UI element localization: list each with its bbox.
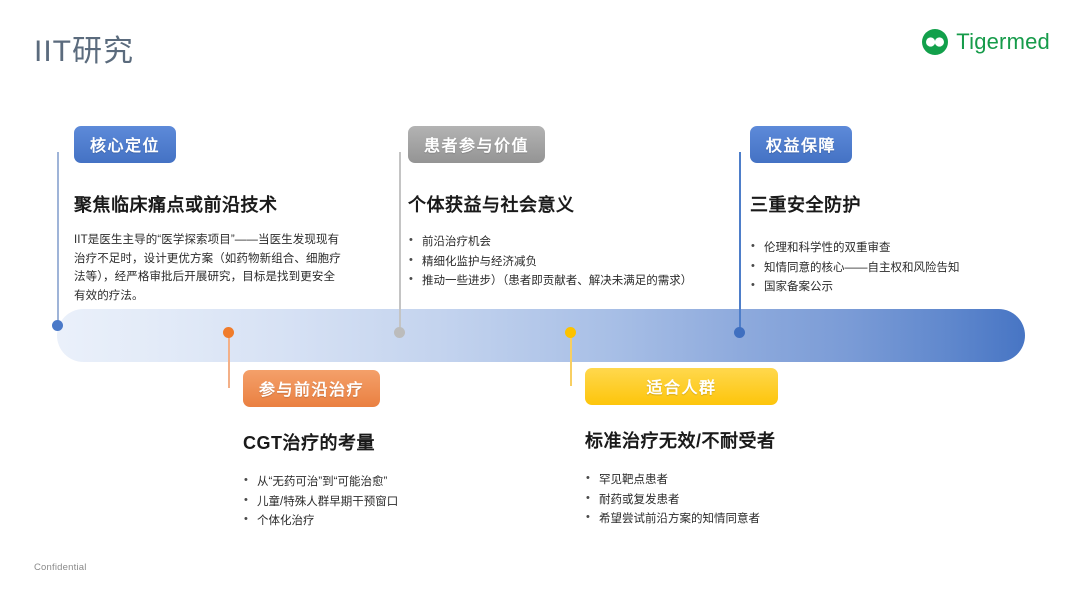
list-item: 个体化治疗	[243, 512, 543, 531]
badge-core-positioning[interactable]: 核心定位	[74, 126, 176, 163]
connector-line-core-positioning	[57, 152, 59, 327]
timeline-dot-core-positioning	[52, 320, 63, 331]
timeline-bar	[57, 309, 1025, 362]
card-core-positioning: 核心定位 聚焦临床痛点或前沿技术 IIT是医生主导的“医学探索项目”——当医生发…	[74, 126, 374, 306]
card-list-suitable-population: 罕见靶点患者 耐药或复发患者 希望尝试前沿方案的知情同意者	[585, 471, 895, 529]
card-list-rights-protection: 伦理和科学性的双重审查 知情同意的核心——自主权和风险告知 国家备案公示	[750, 239, 1050, 297]
card-frontier-treatment: 参与前沿治疗 CGT治疗的考量 从“无药可治”到“可能治愈” 儿童/特殊人群早期…	[243, 370, 553, 532]
list-item: 希望尝试前沿方案的知情同意者	[585, 510, 895, 529]
list-item: 耐药或复发患者	[585, 491, 895, 510]
timeline-dot-rights-protection	[734, 327, 745, 338]
tigermed-logo-icon	[921, 28, 949, 56]
badge-suitable-population[interactable]: 适合人群	[585, 368, 778, 405]
list-item: 知情同意的核心——自主权和风险告知	[750, 259, 1050, 278]
list-item: 伦理和科学性的双重审查	[750, 239, 1050, 258]
tigermed-logo: Tigermed	[921, 28, 1050, 56]
list-item: 罕见靶点患者	[585, 471, 895, 490]
connector-line-frontier-treatment	[228, 333, 230, 388]
card-suitable-population: 适合人群 标准治疗无效/不耐受者 罕见靶点患者 耐药或复发患者 希望尝试前沿方案…	[585, 368, 915, 530]
list-item: 从“无药可治”到“可能治愈”	[243, 473, 543, 492]
connector-line-suitable-population	[570, 333, 572, 386]
connector-line-patient-value	[399, 152, 401, 334]
list-item: 推动一些进步）（患者即贡献者、解决未满足的需求）	[408, 272, 696, 291]
card-title-rights-protection: 三重安全防护	[750, 191, 1060, 217]
list-item: 精细化监护与经济减负	[408, 253, 696, 272]
badge-frontier-treatment[interactable]: 参与前沿治疗	[243, 370, 380, 407]
list-item: 儿童/特殊人群早期干预窗口	[243, 493, 543, 512]
card-title-patient-value: 个体获益与社会意义	[408, 191, 708, 217]
timeline-dot-suitable-population	[565, 327, 576, 338]
page-title: IIT研究	[34, 26, 134, 70]
card-patient-value: 患者参与价值 个体获益与社会意义 前沿治疗机会 精细化监护与经济减负 推动一些进…	[408, 126, 708, 292]
card-title-suitable-population: 标准治疗无效/不耐受者	[585, 427, 915, 453]
confidential-footer: Confidential	[34, 562, 87, 573]
tigermed-logo-text: Tigermed	[956, 29, 1050, 55]
slide-canvas: IIT研究 Tigermed 核心定位 聚焦临床痛点或前沿技术 IIT是医生主导…	[0, 0, 1080, 604]
card-rights-protection: 权益保障 三重安全防护 伦理和科学性的双重审查 知情同意的核心——自主权和风险告…	[750, 126, 1060, 298]
badge-rights-protection[interactable]: 权益保障	[750, 126, 852, 163]
card-list-frontier-treatment: 从“无药可治”到“可能治愈” 儿童/特殊人群早期干预窗口 个体化治疗	[243, 473, 543, 531]
badge-patient-value[interactable]: 患者参与价值	[408, 126, 545, 163]
connector-line-rights-protection	[739, 152, 741, 334]
timeline-dot-frontier-treatment	[223, 327, 234, 338]
card-paragraph-core-positioning: IIT是医生主导的“医学探索项目”——当医生发现现有治疗不足时，设计更优方案（如…	[74, 231, 346, 306]
list-item: 前沿治疗机会	[408, 233, 696, 252]
timeline-dot-patient-value	[394, 327, 405, 338]
card-title-frontier-treatment: CGT治疗的考量	[243, 429, 553, 455]
list-item: 国家备案公示	[750, 278, 1050, 297]
card-list-patient-value: 前沿治疗机会 精细化监护与经济减负 推动一些进步）（患者即贡献者、解决未满足的需…	[408, 233, 696, 291]
card-title-core-positioning: 聚焦临床痛点或前沿技术	[74, 191, 374, 217]
